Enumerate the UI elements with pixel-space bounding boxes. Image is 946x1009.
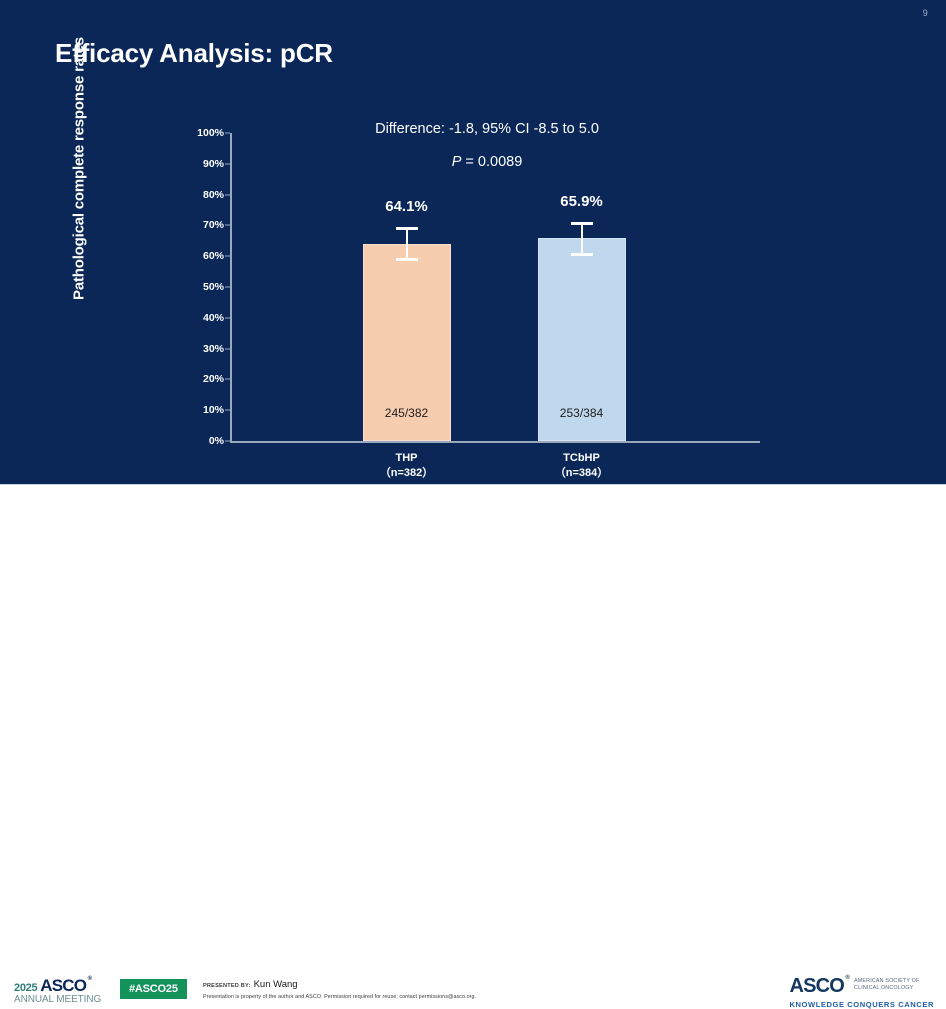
y-tick-label: 20% [178,373,224,385]
hashtag-badge: #ASCO25 [120,979,187,999]
x-category-label: THP （n=382） [380,451,434,481]
presenter-block: PRESENTED BY: Kun Wang Presentation is p… [203,979,476,1000]
error-bar-cap-upper [396,227,418,230]
bar-value-label: 64.1% [385,198,428,215]
error-bar-cap-lower [571,253,593,256]
error-bar-cap-lower [396,258,418,261]
trademark-icon: ® [88,976,92,982]
bar-value-label: 65.9% [560,193,603,210]
y-axis-title: Pathological complete response rates [71,4,88,334]
society-name: AMERICAN SOCIETY OF CLINICAL ONCOLOGY [854,978,919,993]
presented-by-label: PRESENTED BY: [203,983,251,989]
y-tick-label: 10% [178,404,224,416]
y-tick-label: 80% [178,189,224,201]
y-tick-label: 70% [178,219,224,231]
presenter-name: Kun Wang [254,979,298,990]
pvalue-symbol: P [452,154,462,170]
y-tick-label: 90% [178,158,224,170]
error-bar-cap-upper [571,222,593,225]
y-tick-label: 100% [178,127,224,139]
y-tick-label: 0% [178,435,224,447]
y-tick-label: 40% [178,312,224,324]
asco-society-logo: ASCO® AMERICAN SOCIETY OF CLINICAL ONCOL… [789,975,934,1009]
y-tick-label: 50% [178,281,224,293]
y-tick-label: 60% [178,250,224,262]
logo-year: 2025 [14,983,37,994]
error-bar-line [406,228,408,259]
society-tagline: KNOWLEDGE CONQUERS CANCER [789,1000,934,1009]
bar-data-label: 253/384 [560,406,603,420]
trademark-icon: ® [845,975,849,981]
error-bar-line [581,223,583,254]
y-tick-label: 30% [178,343,224,355]
pvalue-annotation: P = 0.0089 [452,154,523,170]
society-asco-wordmark: ASCO® [789,975,844,998]
bar-chart: Pathological complete response rates 100… [0,0,946,484]
bar-data-label: 245/382 [385,406,428,420]
x-category-label: TCbHP （n=384） [555,451,609,481]
slide-footer: 2025 ASCO® ANNUAL MEETING #ASCO25 PRESEN… [0,484,946,535]
asco-annual-meeting-logo: 2025 ASCO® ANNUAL MEETING [14,977,101,1005]
difference-annotation: Difference: -1.8, 95% CI -8.5 to 5.0 [375,121,599,137]
y-axis-line [230,133,232,442]
slide-canvas: 9 Efficacy Analysis: pCR Pathological co… [0,0,946,484]
logo-asco-wordmark: ASCO® [40,977,86,994]
logo-subtitle: ANNUAL MEETING [14,995,101,1005]
pvalue-number: = 0.0089 [461,154,522,170]
disclaimer-text: Presentation is property of the author a… [203,994,476,1000]
x-axis-line [230,441,760,443]
